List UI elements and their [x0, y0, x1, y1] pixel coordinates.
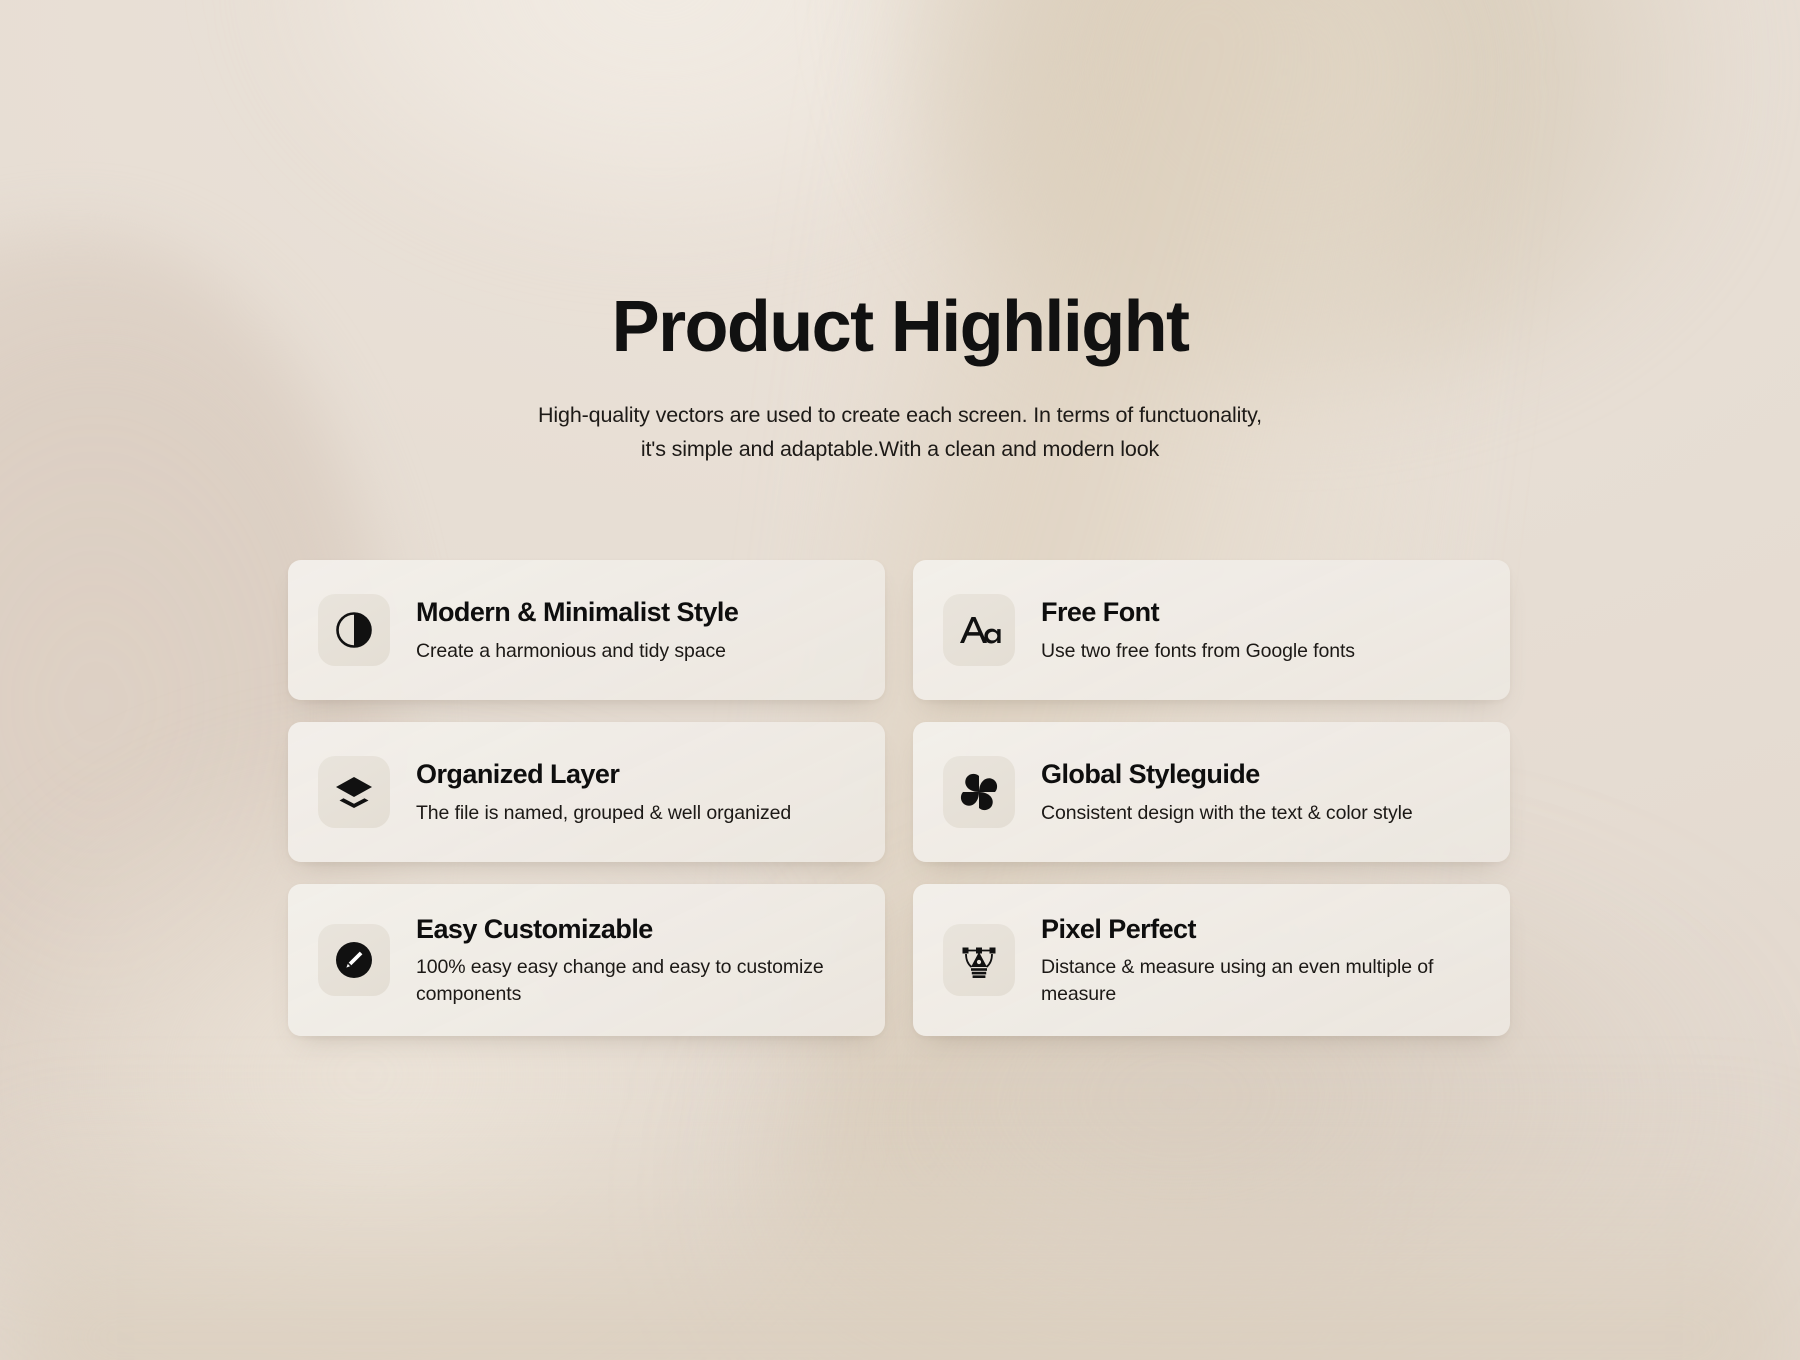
- layers-icon: [318, 756, 390, 828]
- feature-card-description: 100% easy easy change and easy to custom…: [416, 954, 836, 1007]
- feature-card-title: Easy Customizable: [416, 913, 836, 946]
- feature-card-text: Easy Customizable 100% easy easy change …: [416, 913, 836, 1008]
- feature-card-text: Global Styleguide Consistent design with…: [1041, 758, 1413, 826]
- page-subtitle: High-quality vectors are used to create …: [520, 399, 1280, 467]
- feature-card-description: The file is named, grouped & well organi…: [416, 800, 791, 827]
- feature-card-organized-layer[interactable]: Organized Layer The file is named, group…: [288, 722, 885, 862]
- feature-card-description: Create a harmonious and tidy space: [416, 638, 738, 665]
- feature-card-text: Pixel Perfect Distance & measure using a…: [1041, 913, 1461, 1008]
- feature-card-pixel-perfect[interactable]: Pixel Perfect Distance & measure using a…: [913, 884, 1510, 1036]
- feature-card-text: Modern & Minimalist Style Create a harmo…: [416, 596, 738, 664]
- font-aa-icon: [943, 594, 1015, 666]
- feature-card-easy-customizable[interactable]: Easy Customizable 100% easy easy change …: [288, 884, 885, 1036]
- pen-nib-icon: [943, 924, 1015, 996]
- feature-card-global-styleguide[interactable]: Global Styleguide Consistent design with…: [913, 722, 1510, 862]
- feature-card-free-font[interactable]: Free Font Use two free fonts from Google…: [913, 560, 1510, 700]
- product-highlight-page: Product Highlight High-quality vectors a…: [0, 0, 1800, 1360]
- feature-card-title: Modern & Minimalist Style: [416, 596, 738, 629]
- page-subtitle-line-1: High-quality vectors are used to create …: [520, 399, 1280, 433]
- feature-card-title: Pixel Perfect: [1041, 913, 1461, 946]
- feature-card-text: Organized Layer The file is named, group…: [416, 758, 791, 826]
- feature-card-description: Use two free fonts from Google fonts: [1041, 638, 1355, 665]
- feature-card-description: Distance & measure using an even multipl…: [1041, 954, 1461, 1007]
- page-title: Product Highlight: [0, 290, 1800, 365]
- feature-card-grid: Modern & Minimalist Style Create a harmo…: [288, 560, 1510, 1036]
- feature-card-description: Consistent design with the text & color …: [1041, 800, 1413, 827]
- feature-card-title: Free Font: [1041, 596, 1355, 629]
- feature-card-text: Free Font Use two free fonts from Google…: [1041, 596, 1355, 664]
- page-subtitle-line-2: it's simple and adaptable.With a clean a…: [520, 433, 1280, 467]
- contrast-icon: [318, 594, 390, 666]
- page-header: Product Highlight High-quality vectors a…: [0, 290, 1800, 467]
- feature-card-title: Global Styleguide: [1041, 758, 1413, 791]
- feature-card-title: Organized Layer: [416, 758, 791, 791]
- feature-card-modern-minimalist-style[interactable]: Modern & Minimalist Style Create a harmo…: [288, 560, 885, 700]
- pinwheel-icon: [943, 756, 1015, 828]
- pencil-circle-icon: [318, 924, 390, 996]
